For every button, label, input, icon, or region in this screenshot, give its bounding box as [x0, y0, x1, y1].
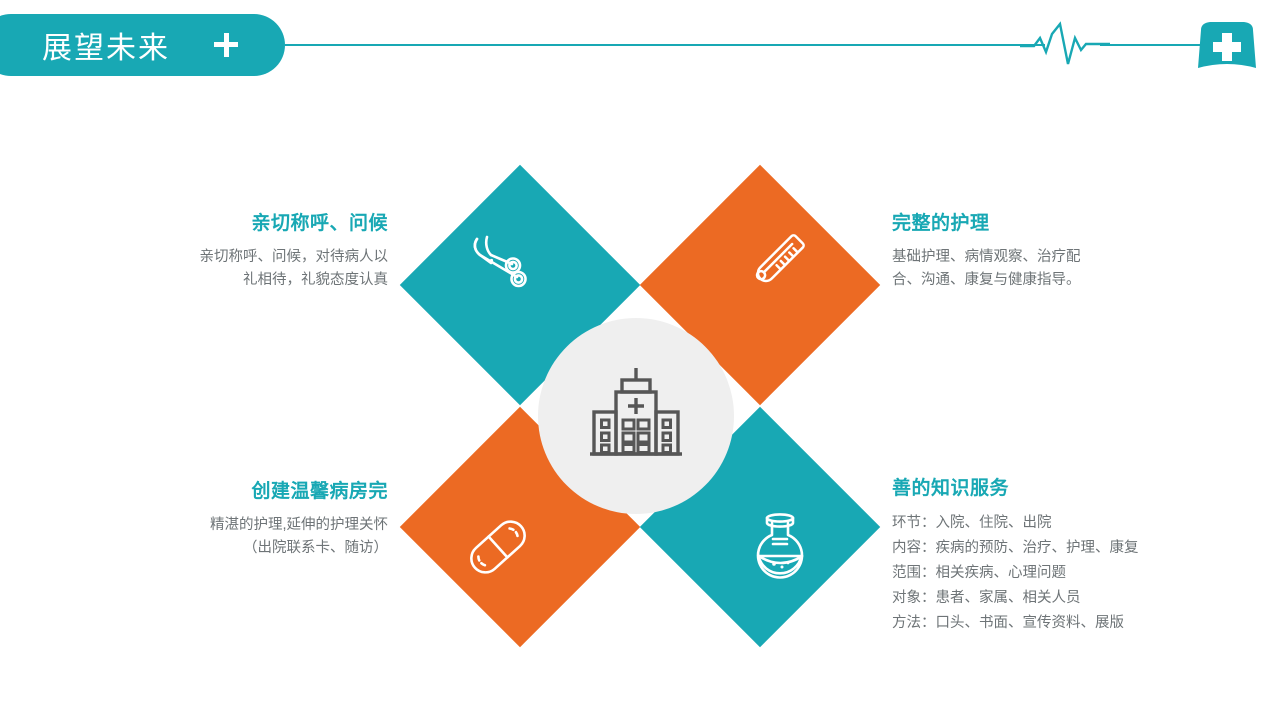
text-block-bottom-left: 创建温馨病房完 精湛的护理,延伸的护理关怀 （出院联系卡、随访） [120, 476, 388, 560]
pill-capsule-icon [459, 508, 537, 591]
ecg-heartbeat-icon [1020, 20, 1110, 72]
plus-icon [214, 33, 238, 57]
diamond-icon-wrap [413, 464, 583, 634]
text-block-top-right: 完整的护理 基础护理、病情观察、治疗配 合、沟通、康复与健康指导。 [892, 208, 1192, 292]
body-line: 内容：疾病的预防、治疗、护理、康复 [892, 536, 1192, 561]
header-title-pill: 展望未来 [0, 14, 285, 76]
diamond-icon-wrap [693, 178, 863, 348]
body-line: 亲切称呼、问候，对待病人以 [120, 246, 388, 269]
text-block-title: 创建温馨病房完 [120, 476, 388, 503]
text-block-body: 亲切称呼、问候，对待病人以 礼相待，礼貌态度认真 [120, 246, 388, 292]
pinwheel-diagram [395, 160, 885, 650]
body-line: 范围：相关疾病、心理问题 [892, 561, 1192, 586]
header-rule-left [285, 44, 1045, 46]
slide-canvas: 展望未来 [0, 0, 1280, 720]
text-block-title: 善的知识服务 [892, 473, 1192, 500]
hospital-building-icon [580, 358, 692, 475]
text-block-body: 基础护理、病情观察、治疗配 合、沟通、康复与健康指导。 [892, 246, 1192, 292]
text-block-top-left: 亲切称呼、问候 亲切称呼、问候，对待病人以 礼相待，礼貌态度认真 [120, 208, 388, 292]
surgical-scissors-icon [461, 226, 535, 305]
body-line: 基础护理、病情观察、治疗配 [892, 246, 1192, 269]
body-line: 合、沟通、康复与健康指导。 [892, 269, 1192, 292]
body-line: （出院联系卡、随访） [120, 537, 388, 560]
body-line: 环节：入院、住院、出院 [892, 511, 1192, 536]
thermometer-icon [740, 223, 816, 304]
text-block-title: 亲切称呼、问候 [120, 208, 388, 235]
text-block-title: 完整的护理 [892, 208, 1192, 235]
diamond-icon-wrap [413, 180, 583, 350]
body-line: 精湛的护理,延伸的护理关怀 [120, 514, 388, 537]
laboratory-flask-icon [743, 508, 817, 587]
text-block-bottom-right: 善的知识服务 环节：入院、住院、出院 内容：疾病的预防、治疗、护理、康复 范围：… [892, 473, 1192, 636]
header-rule-right [1100, 44, 1200, 46]
body-line: 方法：口头、书面、宣传资料、展版 [892, 611, 1192, 636]
slide-header: 展望未来 [0, 0, 1280, 95]
center-circle[interactable] [538, 318, 734, 514]
text-block-body: 精湛的护理,延伸的护理关怀 （出院联系卡、随访） [120, 514, 388, 560]
page-title: 展望未来 [42, 23, 170, 67]
text-block-body: 环节：入院、住院、出院 内容：疾病的预防、治疗、护理、康复 范围：相关疾病、心理… [892, 511, 1192, 636]
body-line: 礼相待，礼貌态度认真 [120, 269, 388, 292]
nurse-cap-cross-icon [1196, 20, 1258, 76]
diamond-icon-wrap [695, 462, 865, 632]
body-line: 对象：患者、家属、相关人员 [892, 586, 1192, 611]
